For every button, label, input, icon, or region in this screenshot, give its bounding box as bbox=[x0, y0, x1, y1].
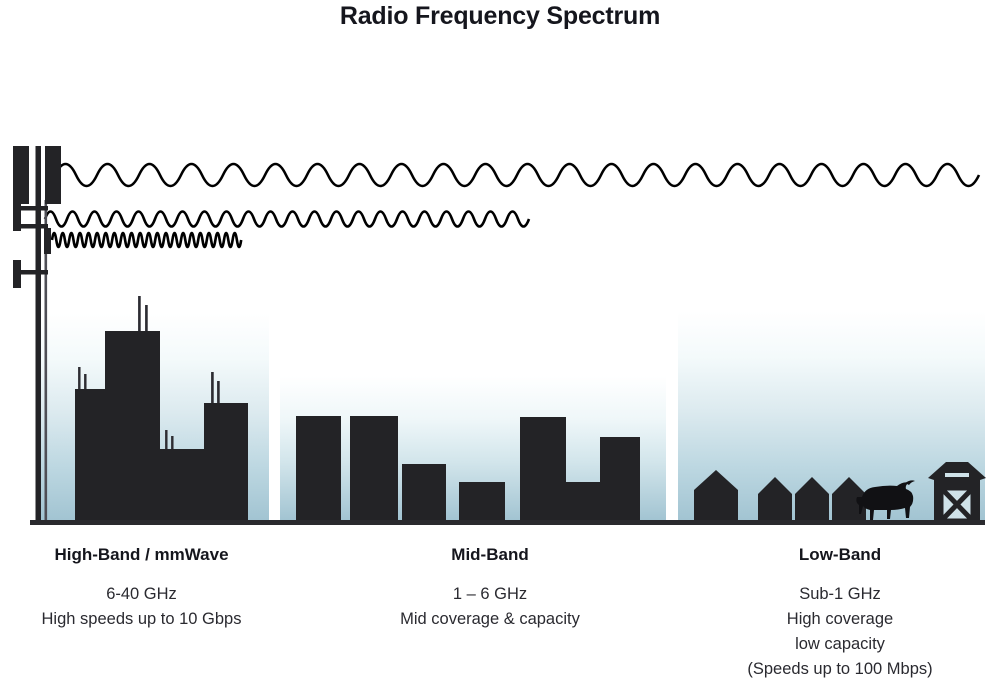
band-line-low-0: Sub-1 GHz bbox=[680, 582, 1000, 607]
high-frequency-wave bbox=[52, 233, 241, 247]
midband-building-3 bbox=[402, 464, 446, 520]
band-line-high-1: High speeds up to 10 Gbps bbox=[0, 607, 283, 632]
skyscraper-2 bbox=[105, 331, 160, 520]
midband-building-4 bbox=[459, 482, 505, 520]
band-heading-high: High-Band / mmWave bbox=[0, 545, 283, 565]
tower-panel-right-upper bbox=[45, 146, 61, 204]
midband-building-6 bbox=[566, 482, 600, 520]
spire-b2 bbox=[145, 305, 148, 332]
barn-icon bbox=[928, 462, 986, 520]
spire-d1 bbox=[211, 372, 214, 406]
mid-frequency-wave bbox=[45, 212, 529, 227]
midband-building-2 bbox=[350, 416, 398, 520]
tower-panel-right-mid bbox=[44, 228, 51, 254]
spire-d2 bbox=[217, 381, 220, 406]
midband-building-1 bbox=[296, 416, 341, 520]
tower-crossbar-lower bbox=[13, 224, 48, 229]
skyscraper-3 bbox=[160, 449, 204, 520]
band-captions: High-Band / mmWave 6-40 GHz High speeds … bbox=[0, 545, 1000, 700]
band-heading-low: Low-Band bbox=[680, 545, 1000, 565]
midband-building-7 bbox=[600, 437, 640, 520]
skyscraper-4 bbox=[204, 403, 248, 520]
band-caption-high: High-Band / mmWave 6-40 GHz High speeds … bbox=[0, 545, 283, 632]
low-frequency-wave bbox=[55, 164, 979, 186]
band-line-low-2: low capacity bbox=[680, 632, 1000, 657]
tower-mast bbox=[36, 146, 42, 522]
spectrum-illustration bbox=[0, 0, 1000, 540]
radio-waves bbox=[45, 164, 979, 247]
barn-window bbox=[945, 473, 969, 477]
tower-crossbar-upper bbox=[13, 206, 48, 211]
band-caption-mid: Mid-Band 1 – 6 GHz Mid coverage & capaci… bbox=[330, 545, 650, 632]
band-line-low-1: High coverage bbox=[680, 607, 1000, 632]
band-line-low-3: (Speeds up to 100 Mbps) bbox=[680, 657, 1000, 682]
band-line-mid-0: 1 – 6 GHz bbox=[330, 582, 650, 607]
tower-crossbar-bottom bbox=[13, 270, 48, 275]
band-heading-mid: Mid-Band bbox=[330, 545, 650, 565]
ground-line bbox=[30, 520, 985, 525]
band-caption-low: Low-Band Sub-1 GHz High coverage low cap… bbox=[680, 545, 1000, 682]
spire-b1 bbox=[138, 296, 141, 332]
tower-panel-left-upper bbox=[13, 146, 29, 204]
band-line-mid-1: Mid coverage & capacity bbox=[330, 607, 650, 632]
skyscraper-1 bbox=[75, 389, 105, 520]
infographic-root: Radio Frequency Spectrum bbox=[0, 0, 1000, 700]
band-line-high-0: 6-40 GHz bbox=[0, 582, 283, 607]
midband-building-5 bbox=[520, 417, 566, 520]
